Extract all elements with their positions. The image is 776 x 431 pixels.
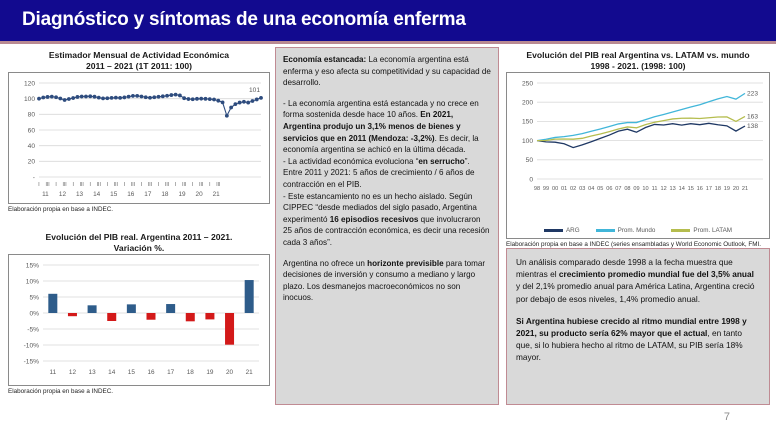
svg-text:21: 21 [213, 191, 221, 198]
svg-text:-10%: -10% [24, 342, 40, 349]
svg-text:200: 200 [522, 100, 533, 107]
spacer [516, 305, 760, 315]
svg-text:III: III [182, 182, 186, 188]
legend-label: Prom. LATAM [693, 227, 732, 234]
svg-text:101: 101 [249, 87, 260, 94]
svg-text:11: 11 [652, 186, 658, 192]
right-paragraph-2: Si Argentina hubiese crecido al ritmo mu… [516, 315, 760, 364]
chart-pib-comparado[interactable]: 050100150200250 989900010203040506070809… [506, 72, 770, 239]
page-number: 7 [724, 411, 730, 423]
svg-text:11: 11 [42, 191, 49, 198]
svg-text:21: 21 [246, 369, 254, 376]
svg-text:19: 19 [724, 186, 730, 192]
svg-text:I: I [124, 182, 125, 188]
legend-swatch-icon [671, 229, 690, 231]
legend-item-arg[interactable]: ARG [544, 227, 580, 234]
svg-text:I: I [158, 182, 159, 188]
svg-text:20: 20 [733, 186, 739, 192]
svg-text:06: 06 [606, 186, 612, 192]
svg-text:I: I [107, 182, 108, 188]
svg-text:10: 10 [642, 186, 648, 192]
right-analysis-textbox: Un análisis comparado desde 1998 a la fe… [506, 248, 770, 405]
svg-text:I: I [38, 182, 39, 188]
svg-text:07: 07 [615, 186, 621, 192]
chart-pib-variacion[interactable]: -15%-10%-5%0%5%10%15% 111213141516171819… [8, 254, 270, 386]
svg-text:50: 50 [526, 157, 534, 164]
svg-text:12: 12 [660, 186, 666, 192]
svg-text:12: 12 [69, 369, 77, 376]
center-paragraph-3: - La actividad económica evoluciona “en … [283, 156, 491, 191]
svg-text:01: 01 [561, 186, 567, 192]
svg-text:120: 120 [24, 80, 35, 87]
svg-text:60: 60 [28, 127, 36, 134]
chart2-title-line1: Evolución del PIB real. Argentina 2011 –… [8, 232, 270, 243]
svg-text:19: 19 [206, 369, 214, 376]
center-p1-bold: Economía estancada: [283, 55, 366, 64]
chart1-title-line1: Estimador Mensual de Actividad Económica [8, 50, 270, 61]
chart2-source: Elaboración propia en base a INDEC. [8, 388, 270, 395]
center-paragraph-1: Economía estancada: La economía argentin… [283, 54, 491, 89]
svg-text:-5%: -5% [27, 326, 39, 333]
center-p3-a: - La actividad económica evoluciona “ [283, 157, 418, 166]
svg-text:11: 11 [49, 369, 56, 376]
svg-text:13: 13 [89, 369, 97, 376]
legend-label: ARG [566, 227, 580, 234]
legend-swatch-icon [544, 229, 563, 231]
center-paragraph-2: - La economía argentina está estancada y… [283, 98, 491, 156]
svg-text:223: 223 [747, 91, 758, 98]
chart3-legend: ARGProm. MundoProm. LATAM [507, 227, 769, 234]
svg-text:16: 16 [697, 186, 703, 192]
svg-text:15: 15 [128, 369, 136, 376]
svg-text:5%: 5% [29, 294, 39, 301]
center-p5-a: Argentina no ofrece un [283, 259, 367, 268]
svg-text:17: 17 [706, 186, 712, 192]
center-p4-b: 16 episodios recesivos [330, 215, 419, 224]
chart3-title-line1: Evolución del PIB real Argentina vs. LAT… [506, 50, 770, 61]
legend-swatch-icon [596, 229, 615, 231]
chart1-title-line2: 2011 – 2021 (1T 2011: 100) [8, 61, 270, 72]
svg-text:20: 20 [196, 191, 204, 198]
svg-text:100: 100 [522, 138, 533, 145]
svg-text:-15%: -15% [24, 358, 40, 365]
svg-text:0: 0 [529, 176, 533, 183]
svg-text:17: 17 [167, 369, 175, 376]
svg-text:80: 80 [28, 112, 36, 119]
chart3-title-line2: 1998 - 2021. (1998: 100) [506, 61, 770, 72]
center-p5-b: horizonte previsible [367, 259, 443, 268]
svg-text:III: III [45, 182, 49, 188]
svg-text:17: 17 [144, 191, 152, 198]
svg-text:12: 12 [59, 191, 67, 198]
svg-text:15: 15 [110, 191, 118, 198]
svg-text:I: I [192, 182, 193, 188]
svg-text:18: 18 [715, 186, 721, 192]
svg-text:19: 19 [178, 191, 186, 198]
svg-text:99: 99 [543, 186, 549, 192]
svg-text:21: 21 [742, 186, 748, 192]
svg-text:16: 16 [127, 191, 135, 198]
spacer [283, 249, 491, 258]
chart-pib-comparado-svg: 050100150200250 989900010203040506070809… [507, 73, 769, 218]
svg-text:150: 150 [522, 119, 533, 126]
svg-text:04: 04 [588, 186, 594, 192]
svg-text:20: 20 [226, 369, 234, 376]
svg-text:14: 14 [679, 186, 685, 192]
svg-text:00: 00 [552, 186, 558, 192]
legend-item-prom-mundo[interactable]: Prom. Mundo [596, 227, 656, 234]
right-p1-c: y del 2,1% promedio anual para América L… [516, 281, 754, 303]
svg-text:05: 05 [597, 186, 603, 192]
svg-text:III: III [131, 182, 135, 188]
panel-pib-comparado: Evolución del PIB real Argentina vs. LAT… [506, 50, 770, 248]
svg-text:I: I [209, 182, 210, 188]
svg-text:III: III [97, 182, 101, 188]
svg-text:14: 14 [108, 369, 116, 376]
center-analysis-textbox: Economía estancada: La economía argentin… [275, 47, 499, 405]
svg-text:0%: 0% [29, 310, 39, 317]
center-p3-b: en serrucho [418, 157, 464, 166]
svg-text:I: I [55, 182, 56, 188]
center-paragraph-4: - Este estancamiento no es un hecho aisl… [283, 191, 491, 249]
svg-text:III: III [165, 182, 169, 188]
svg-text:I: I [90, 182, 91, 188]
svg-text:13: 13 [670, 186, 676, 192]
svg-text:III: III [80, 182, 84, 188]
panel-emae: Estimador Mensual de Actividad Económica… [8, 50, 270, 213]
svg-text:02: 02 [570, 186, 576, 192]
svg-text:15: 15 [688, 186, 694, 192]
page-title: Diagnóstico y síntomas de una economía e… [22, 9, 466, 31]
right-paragraph-1: Un análisis comparado desde 1998 a la fe… [516, 256, 760, 305]
svg-text:I: I [72, 182, 73, 188]
chart-emae-svg: -20406080100120 IIII11IIII12IIII13IIII14… [9, 73, 269, 203]
svg-text:09: 09 [633, 186, 639, 192]
chart-pib-variacion-svg: -15%-10%-5%0%5%10%15% 111213141516171819… [9, 255, 269, 385]
svg-text:98: 98 [534, 186, 540, 192]
header-accent-line [0, 41, 776, 44]
center-paragraph-5: Argentina no ofrece un horizonte previsi… [283, 258, 491, 304]
svg-text:-: - [33, 174, 35, 181]
spacer [283, 89, 491, 98]
svg-text:18: 18 [187, 369, 195, 376]
svg-text:14: 14 [93, 191, 101, 198]
svg-text:18: 18 [161, 191, 169, 198]
svg-text:16: 16 [147, 369, 155, 376]
legend-label: Prom. Mundo [618, 227, 656, 234]
right-p1-b: crecimiento promedio mundial fue del 3,5… [559, 269, 754, 279]
svg-text:13: 13 [76, 191, 84, 198]
svg-text:I: I [175, 182, 176, 188]
svg-text:15%: 15% [26, 262, 39, 269]
svg-text:250: 250 [522, 80, 533, 87]
svg-text:20: 20 [28, 159, 36, 166]
chart1-source: Elaboración propia en base a INDEC. [8, 206, 270, 213]
svg-text:III: III [148, 182, 152, 188]
svg-text:100: 100 [24, 96, 35, 103]
svg-text:III: III [63, 182, 67, 188]
chart3-source: Elaboración propia en base a INDEC (seri… [506, 241, 770, 248]
chart2-title-line2: Variación %. [8, 243, 270, 254]
svg-text:08: 08 [624, 186, 630, 192]
svg-text:163: 163 [747, 114, 758, 121]
svg-text:40: 40 [28, 143, 36, 150]
chart-emae[interactable]: -20406080100120 IIII11IIII12IIII13IIII14… [8, 72, 270, 204]
svg-text:III: III [114, 182, 118, 188]
panel-pib-variacion: Evolución del PIB real. Argentina 2011 –… [8, 232, 270, 395]
svg-text:138: 138 [747, 123, 758, 130]
svg-text:III: III [216, 182, 220, 188]
svg-text:03: 03 [579, 186, 585, 192]
svg-text:III: III [199, 182, 203, 188]
svg-text:I: I [141, 182, 142, 188]
svg-text:10%: 10% [26, 278, 39, 285]
legend-item-prom-latam[interactable]: Prom. LATAM [671, 227, 732, 234]
